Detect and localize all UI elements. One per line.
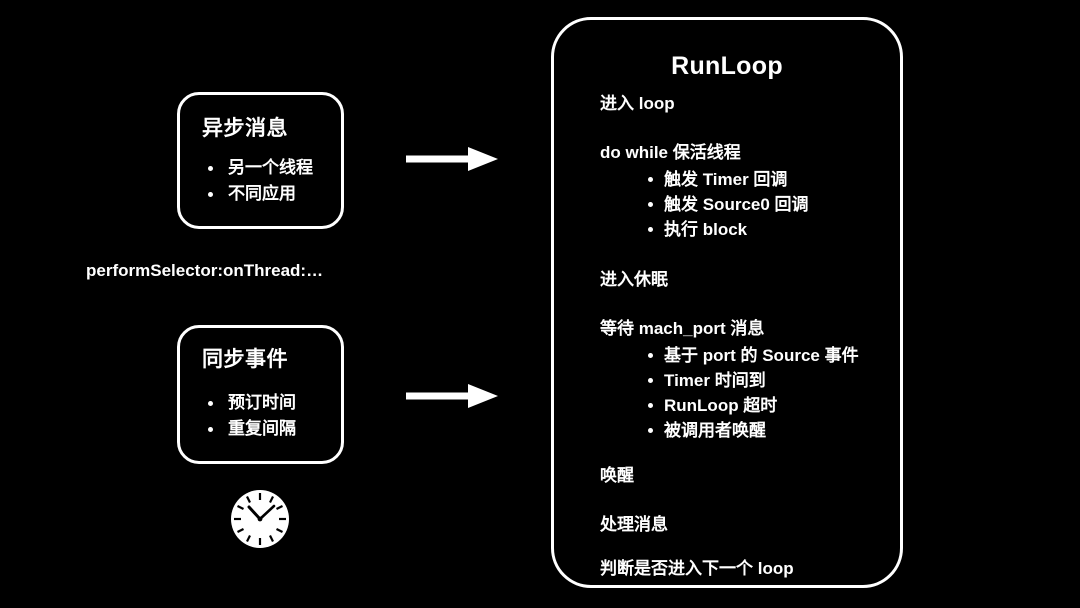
perform-selector-caption: performSelector:onThread:…: [86, 261, 323, 281]
list-item: Timer 时间到: [648, 368, 888, 393]
runloop-step-handle-message: 处理消息: [600, 514, 888, 536]
list-item: 触发 Source0 回调: [648, 192, 888, 217]
runloop-step-do-while-sublist: 触发 Timer 回调 触发 Source0 回调 执行 block: [600, 167, 888, 242]
runloop-step-wake: 唤醒: [600, 465, 888, 487]
runloop-step-enter-loop: 进入 loop: [600, 93, 888, 115]
runloop-step-sleep: 进入休眠: [600, 269, 888, 291]
list-item: 另一个线程: [206, 155, 313, 181]
clock-icon: [230, 489, 290, 554]
list-item: 重复间隔: [206, 416, 296, 442]
list-item: 触发 Timer 回调: [648, 167, 888, 192]
page-title: RunLoop: [554, 52, 900, 81]
runloop-step-do-while: do while 保活线程: [600, 142, 888, 164]
sync-event-box: 同步事件 预订时间 重复间隔: [177, 325, 344, 464]
arrow-right-icon: [406, 381, 498, 416]
sync-event-title: 同步事件: [202, 343, 288, 373]
list-item: 基于 port 的 Source 事件: [648, 343, 888, 368]
arrow-right-icon: [406, 144, 498, 179]
runloop-step-wait-sublist: 基于 port 的 Source 事件 Timer 时间到 RunLoop 超时…: [600, 343, 888, 443]
list-item: 不同应用: [206, 181, 313, 207]
runloop-steps: 进入 loop do while 保活线程 触发 Timer 回调 触发 Sou…: [600, 93, 888, 580]
async-message-title: 异步消息: [202, 112, 288, 142]
async-message-list: 另一个线程 不同应用: [206, 155, 313, 207]
list-item: 被调用者唤醒: [648, 418, 888, 443]
diagram-canvas: 异步消息 另一个线程 不同应用 performSelector:onThread…: [0, 0, 1080, 608]
sync-event-list: 预订时间 重复间隔: [206, 390, 296, 442]
list-item: 执行 block: [648, 217, 888, 242]
runloop-step-wait-mach-port: 等待 mach_port 消息: [600, 318, 888, 340]
runloop-step-next-loop: 判断是否进入下一个 loop: [600, 558, 888, 580]
list-item: RunLoop 超时: [648, 393, 888, 418]
list-item: 预订时间: [206, 390, 296, 416]
async-message-box: 异步消息 另一个线程 不同应用: [177, 92, 344, 229]
runloop-box: RunLoop 进入 loop do while 保活线程 触发 Timer 回…: [551, 17, 903, 588]
